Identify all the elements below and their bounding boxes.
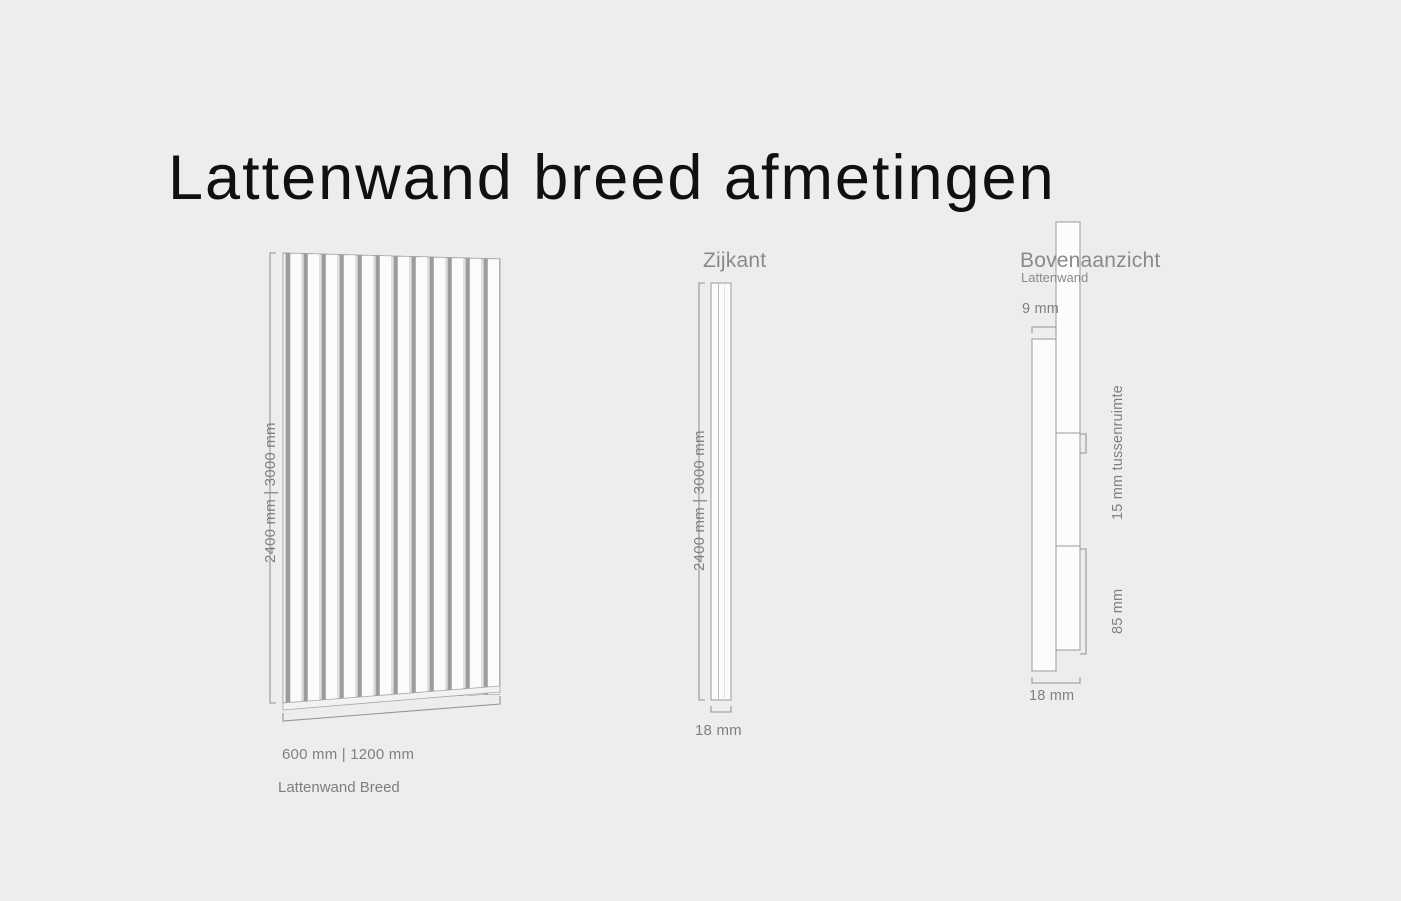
top-view-section xyxy=(1032,222,1080,671)
slat-shadow xyxy=(430,257,434,697)
slat-face xyxy=(362,255,375,699)
slat-group xyxy=(286,253,500,703)
side-thickness-dimension-bracket xyxy=(711,706,731,712)
top-backing-thickness-bracket xyxy=(1032,327,1056,333)
front-view-caption: Lattenwand Breed xyxy=(278,779,400,796)
front-height-dimension-label: 2400 mm | 3000 mm xyxy=(262,422,279,563)
slat-shadow xyxy=(340,255,344,701)
slat-face xyxy=(290,253,302,702)
front-width-dimension-bracket xyxy=(283,696,500,721)
slat-face xyxy=(416,257,429,698)
top-view-subheading: Lattenwand xyxy=(1021,270,1088,285)
top-slat-width-bracket xyxy=(1080,549,1086,654)
top-backing-thickness-label: 9 mm xyxy=(1022,301,1059,317)
top-view-backing xyxy=(1032,339,1056,671)
slat-face xyxy=(380,256,393,699)
slat-face xyxy=(488,259,500,695)
side-thickness-dimension-label: 18 mm xyxy=(695,722,742,739)
top-slat-width-label: 85 mm xyxy=(1110,589,1126,634)
top-gap-dimension-bracket xyxy=(1080,434,1086,453)
slat-face xyxy=(308,254,321,702)
top-total-thickness-bracket xyxy=(1032,677,1080,683)
front-view-panel xyxy=(283,253,500,710)
slat-face xyxy=(326,254,339,701)
page-title: Lattenwand breed afmetingen xyxy=(168,136,1268,220)
slat-face xyxy=(434,257,447,697)
diagram-canvas: Lattenwand breed afmetingen xyxy=(0,0,1401,901)
slat-shadow xyxy=(376,256,380,699)
top-gap-dimension-label: 15 mm tussenruimte xyxy=(1110,385,1126,520)
top-view-slat xyxy=(1056,339,1080,570)
slat-shadow xyxy=(322,254,326,701)
panel-backing xyxy=(283,253,500,703)
slat-face xyxy=(470,258,483,695)
side-view-heading: Zijkant xyxy=(703,249,766,273)
slat-shadow xyxy=(484,259,488,695)
slat-shadow xyxy=(448,258,452,697)
slat-shadow xyxy=(412,257,416,698)
panel-bottom-face xyxy=(283,686,500,710)
slat-face xyxy=(344,255,357,701)
slat-face xyxy=(452,258,465,696)
slat-shadow xyxy=(466,258,470,695)
top-view-slat xyxy=(1056,546,1080,650)
top-total-thickness-label: 18 mm xyxy=(1029,688,1074,704)
slat-shadow xyxy=(394,256,398,698)
slat-shadow xyxy=(304,254,308,702)
front-width-dimension-label: 600 mm | 1200 mm xyxy=(282,746,414,763)
side-height-dimension-label: 2400 mm | 3000 mm xyxy=(691,430,708,571)
side-view-bar xyxy=(711,283,731,700)
slat-shadow xyxy=(286,253,291,703)
slat-shadow xyxy=(358,255,362,700)
slat-face xyxy=(398,256,411,698)
